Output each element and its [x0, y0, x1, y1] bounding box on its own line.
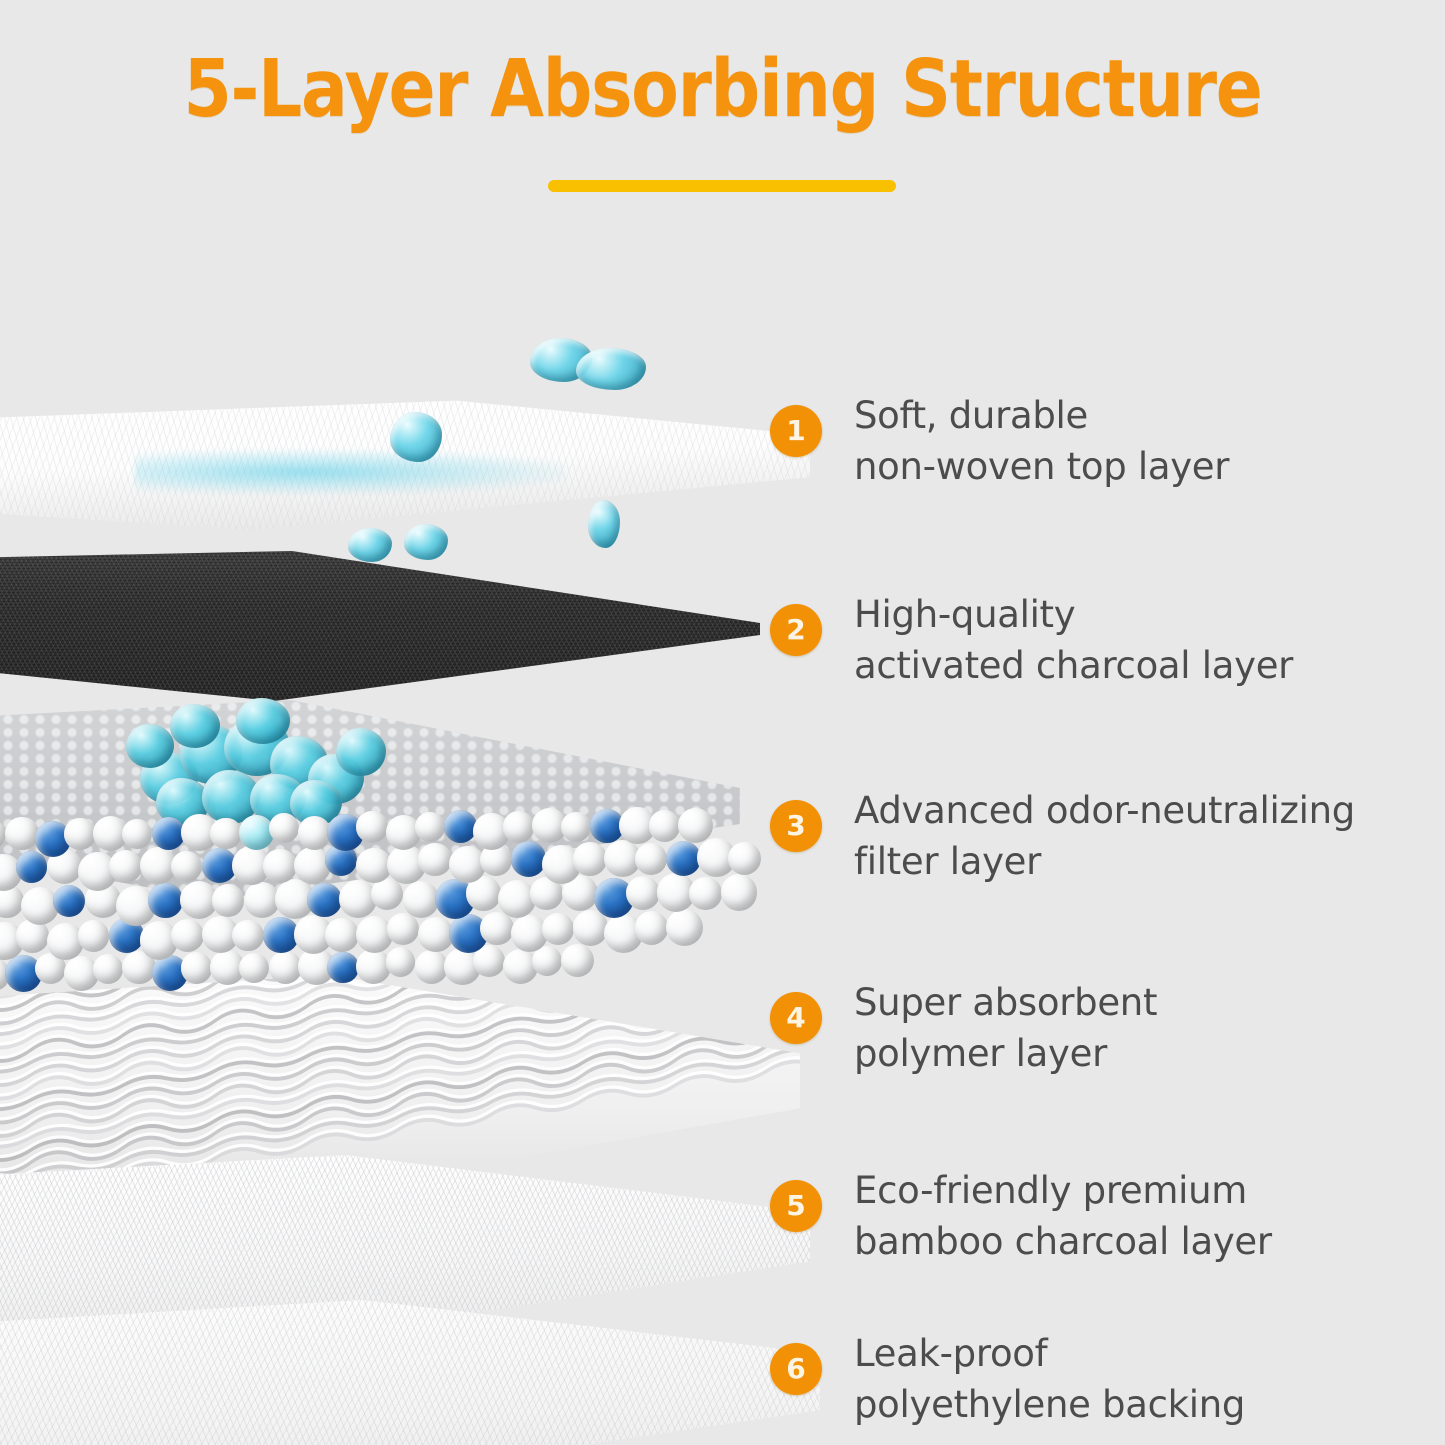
absorbent-bead	[721, 874, 757, 910]
layer-stack-illustration	[0, 0, 860, 1445]
gel-droplet	[236, 698, 290, 744]
absorbent-bead	[561, 812, 591, 842]
charcoal-weave-texture	[0, 551, 760, 701]
callout-badge-1: 1	[770, 405, 822, 457]
absorbent-bead	[649, 810, 681, 842]
absorbent-bead	[387, 913, 419, 945]
absorbent-bead	[635, 911, 668, 944]
callout-item-4: 4Super absorbent polymer layer	[770, 992, 1157, 1079]
callout-label-2: High-quality activated charcoal layer	[854, 590, 1293, 691]
water-droplet	[390, 412, 442, 462]
absorbent-bead	[5, 817, 38, 850]
absorbent-bead	[152, 817, 185, 850]
callout-item-5: 5Eco-friendly premium bamboo charcoal la…	[770, 1180, 1272, 1267]
callout-label-4: Super absorbent polymer layer	[854, 978, 1157, 1079]
callout-badge-6: 6	[770, 1343, 822, 1395]
callout-badge-3: 3	[770, 800, 822, 852]
water-droplet	[404, 524, 448, 560]
absorbent-bead	[181, 952, 213, 984]
backing-sheet-texture	[0, 1300, 820, 1445]
absorbent-bead	[327, 952, 359, 984]
absorbent-bead	[511, 841, 546, 876]
absorbent-bead	[171, 919, 204, 952]
gel-droplet-cluster	[140, 718, 360, 828]
callout-item-2: 2High-quality activated charcoal layer	[770, 604, 1293, 691]
callout-list: 1Soft, durable non-woven top layer2High-…	[770, 0, 1445, 1445]
absorbent-bead	[415, 812, 445, 842]
absorbent-bead	[212, 884, 245, 917]
absorbent-bead	[64, 818, 96, 850]
absorbent-bead	[356, 811, 388, 843]
absorbent-bead	[418, 843, 451, 876]
water-droplet	[348, 528, 392, 562]
absorbent-bead	[666, 841, 701, 876]
absorbent-bead	[16, 851, 48, 883]
callout-item-3: 3Advanced odor-neutralizing filter layer	[770, 800, 1355, 887]
absorbent-bead	[678, 808, 713, 843]
absorbent-bead	[635, 843, 667, 875]
polyethylene-backing-layer	[0, 1300, 820, 1445]
absorbent-bead	[269, 813, 299, 843]
gel-droplet	[126, 724, 174, 768]
absorbent-bead	[93, 954, 123, 984]
absorbent-bead	[573, 842, 606, 875]
absorbent-bead	[325, 918, 358, 951]
absorbent-bead	[263, 849, 296, 882]
water-droplet	[588, 500, 620, 548]
water-droplet	[576, 348, 646, 390]
absorbent-bead	[480, 912, 513, 945]
callout-label-1: Soft, durable non-woven top layer	[854, 391, 1229, 492]
absorbent-bead	[53, 885, 86, 918]
callout-label-6: Leak-proof polyethylene backing	[854, 1329, 1245, 1430]
odor-neutralizing-filter-layer	[0, 700, 800, 1020]
absorbent-bead	[386, 947, 416, 977]
callout-badge-2: 2	[770, 604, 822, 656]
absorbent-bead	[532, 946, 562, 976]
activated-charcoal-layer	[0, 551, 760, 701]
absorbent-bead	[503, 811, 535, 843]
absorbent-bead	[232, 920, 264, 952]
product-infographic: 5-Layer Absorbing Structure	[0, 0, 1445, 1445]
callout-badge-4: 4	[770, 992, 822, 1044]
callout-item-1: 1Soft, durable non-woven top layer	[770, 405, 1229, 492]
absorbent-bead	[269, 951, 302, 984]
gel-droplet	[170, 704, 220, 748]
absorbent-bead	[109, 850, 142, 883]
absorbent-bead	[561, 944, 594, 977]
absorbent-bead	[78, 920, 110, 952]
callout-item-6: 6Leak-proof polyethylene backing	[770, 1343, 1245, 1430]
absorbent-bead	[666, 909, 703, 946]
absorbent-bead	[239, 953, 269, 983]
liquid-absorption-patch	[135, 450, 565, 494]
absorbent-bead	[403, 881, 439, 917]
absorbent-bead	[244, 882, 280, 918]
callout-label-3: Advanced odor-neutralizing filter layer	[854, 786, 1355, 887]
absorbent-bead	[689, 877, 722, 910]
absorbent-bead	[210, 818, 242, 850]
callout-badge-5: 5	[770, 1180, 822, 1232]
absorbent-bead	[573, 910, 608, 945]
absorbent-bead	[148, 883, 182, 917]
gel-droplet	[336, 728, 386, 776]
absorbent-bead	[728, 842, 761, 875]
callout-label-5: Eco-friendly premium bamboo charcoal lay…	[854, 1166, 1272, 1267]
absorbent-bead	[307, 883, 341, 917]
absorbent-bead	[542, 913, 574, 945]
absorbent-bead	[626, 876, 660, 910]
